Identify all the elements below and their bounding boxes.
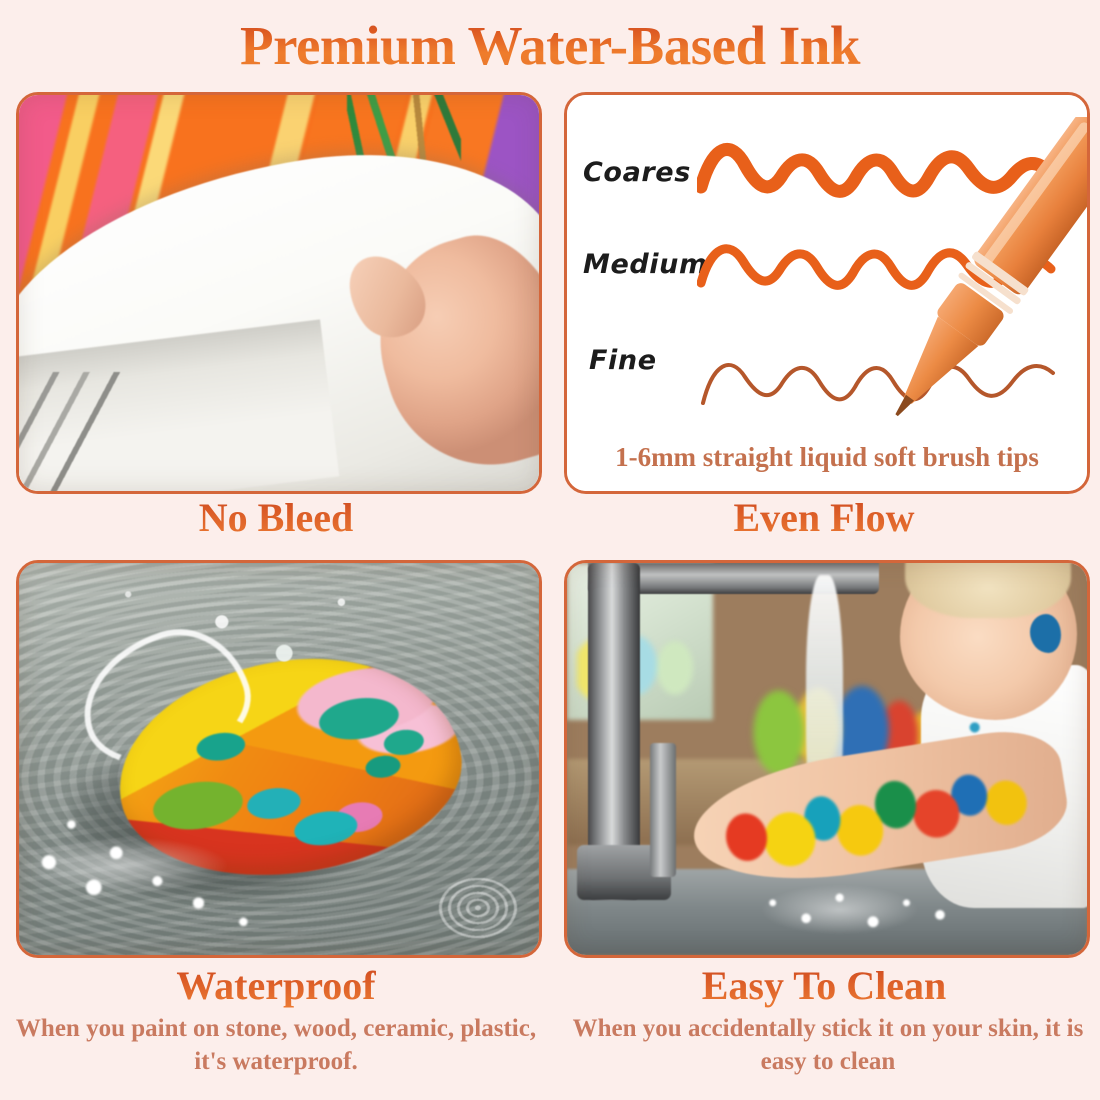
feature-panel-even-flow: Coares Medium Fine xyxy=(564,92,1090,494)
stroke-label-fine: Fine xyxy=(589,345,657,376)
feature-panel-no-bleed xyxy=(16,92,542,494)
feature-description-waterproof: When you paint on stone, wood, ceramic, … xyxy=(10,1012,542,1078)
photo-child-washing-painted-hands xyxy=(567,563,1087,955)
infographic-page: Premium Water-Based Ink No Bleed Coares … xyxy=(0,0,1100,1100)
feature-caption-even-flow: Even Flow xyxy=(564,494,1084,541)
feature-caption-waterproof: Waterproof xyxy=(16,962,536,1009)
stroke-label-medium: Medium xyxy=(583,249,708,280)
water-splatter xyxy=(744,865,983,951)
feature-description-easy-to-clean: When you accidentally stick it on your s… xyxy=(562,1012,1094,1078)
stroke-label-coarse: Coares xyxy=(583,157,691,188)
stroke-chart-caption: 1-6mm straight liquid soft brush tips xyxy=(567,442,1087,473)
photo-hand-lifting-sketchbook-page xyxy=(19,95,539,491)
marker-pen-icon xyxy=(879,117,1090,447)
photo-painted-stone-in-water xyxy=(19,563,539,955)
feature-panel-easy-to-clean xyxy=(564,560,1090,958)
stroke-chart: Coares Medium Fine xyxy=(567,95,1087,491)
feature-caption-no-bleed: No Bleed xyxy=(16,494,536,541)
feature-panel-waterproof xyxy=(16,560,542,958)
sink-sprayer xyxy=(650,743,676,876)
spiral-binding xyxy=(16,372,133,494)
page-title: Premium Water-Based Ink xyxy=(0,14,1100,77)
feature-caption-easy-to-clean: Easy To Clean xyxy=(564,962,1084,1009)
